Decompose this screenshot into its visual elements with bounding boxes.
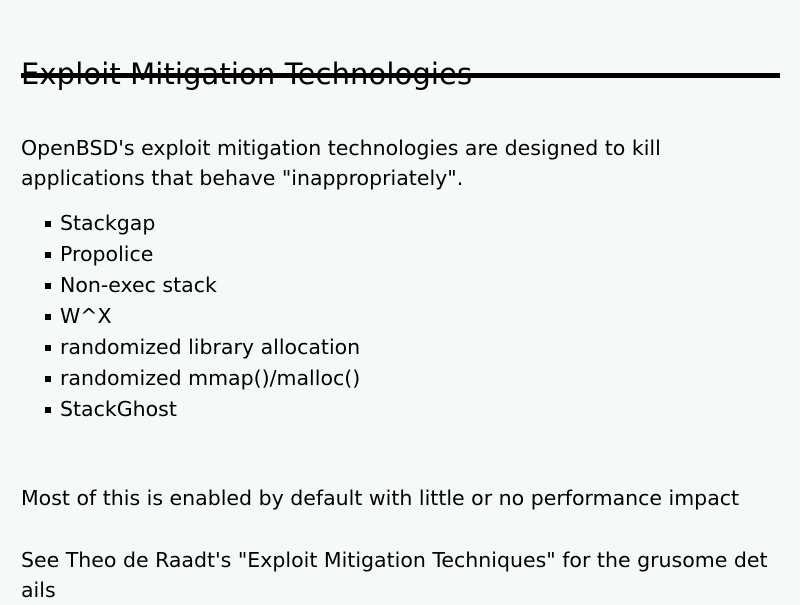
square-bullet-icon xyxy=(45,221,51,227)
square-bullet-icon xyxy=(45,407,51,413)
presentation-slide: Exploit Mitigation Technologies OpenBSD'… xyxy=(0,0,800,600)
list-item: randomized mmap()/malloc() xyxy=(0,363,360,394)
square-bullet-icon xyxy=(45,283,51,289)
list-item-label: StackGhost xyxy=(60,394,177,425)
intro-paragraph: OpenBSD's exploit mitigation technologie… xyxy=(21,133,781,193)
square-bullet-icon xyxy=(45,376,51,382)
list-item: StackGhost xyxy=(0,394,360,425)
slide-body: OpenBSD's exploit mitigation technologie… xyxy=(0,0,800,600)
list-item: W^X xyxy=(0,301,360,332)
footer-paragraph-reference: See Theo de Raadt's "Exploit Mitigation … xyxy=(21,545,779,605)
list-item-label: randomized library allocation xyxy=(60,332,360,363)
square-bullet-icon xyxy=(45,345,51,351)
list-item: Non-exec stack xyxy=(0,270,360,301)
list-item-label: W^X xyxy=(60,301,112,332)
list-item: Propolice xyxy=(0,239,360,270)
list-item-label: Propolice xyxy=(60,239,153,270)
footer-paragraph-default-enabled: Most of this is enabled by default with … xyxy=(21,483,781,513)
list-item-label: randomized mmap()/malloc() xyxy=(60,363,360,394)
square-bullet-icon xyxy=(45,252,51,258)
list-item: randomized library allocation xyxy=(0,332,360,363)
list-item-label: Stackgap xyxy=(60,208,155,239)
square-bullet-icon xyxy=(45,314,51,320)
list-item-label: Non-exec stack xyxy=(60,270,217,301)
list-item: Stackgap xyxy=(0,208,360,239)
mitigation-technologies-list: Stackgap Propolice Non-exec stack W^X ra… xyxy=(0,208,360,425)
